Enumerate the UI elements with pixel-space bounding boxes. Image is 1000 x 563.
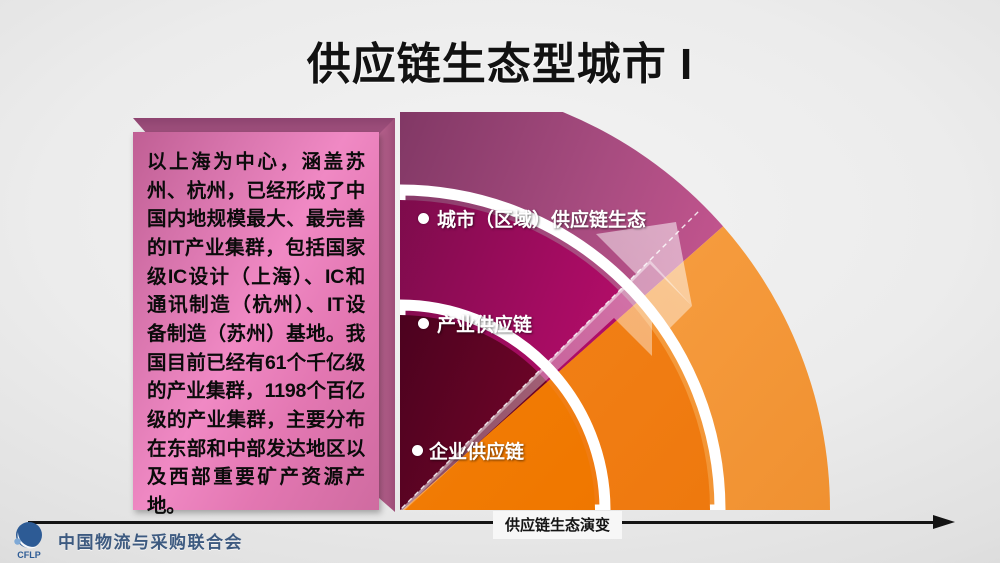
footer: CFLP 中国物流与采购联合会 bbox=[0, 517, 1000, 563]
cflp-logo: CFLP bbox=[8, 519, 50, 561]
arc-label-middle-text: 产业供应链 bbox=[437, 310, 532, 337]
slide-canvas: 供应链生态型城市 I 以上海为中心，涵盖苏州、杭州，已经形成了中国内地规模最大、… bbox=[0, 0, 1000, 563]
panel-right-bevel bbox=[379, 118, 395, 512]
arc-diagram: 城市（区域）供应链生态 产业供应链 企业供应链 bbox=[400, 112, 860, 510]
cflp-logo-text: CFLP bbox=[17, 550, 41, 560]
bullet-icon bbox=[418, 213, 429, 224]
arc-label-inner-text: 企业供应链 bbox=[429, 437, 524, 464]
bullet-icon bbox=[412, 445, 423, 456]
panel-face: 以上海为中心，涵盖苏州、杭州，已经形成了中国内地规模最大、最完善的IT产业集群，… bbox=[133, 132, 379, 510]
page-title: 供应链生态型城市 I bbox=[0, 28, 1000, 92]
text-panel: 以上海为中心，涵盖苏州、杭州，已经形成了中国内地规模最大、最完善的IT产业集群，… bbox=[133, 118, 395, 512]
arc-label-outer-text: 城市（区域）供应链生态 bbox=[437, 205, 646, 232]
panel-body-text: 以上海为中心，涵盖苏州、杭州，已经形成了中国内地规模最大、最完善的IT产业集群，… bbox=[147, 148, 365, 521]
arc-label-middle: 产业供应链 bbox=[418, 310, 532, 337]
cflp-logo-icon: CFLP bbox=[8, 519, 50, 561]
arc-label-inner: 企业供应链 bbox=[412, 437, 524, 464]
arc-label-outer: 城市（区域）供应链生态 bbox=[418, 205, 646, 232]
bullet-icon bbox=[418, 318, 429, 329]
footer-organization: 中国物流与采购联合会 bbox=[58, 528, 243, 553]
